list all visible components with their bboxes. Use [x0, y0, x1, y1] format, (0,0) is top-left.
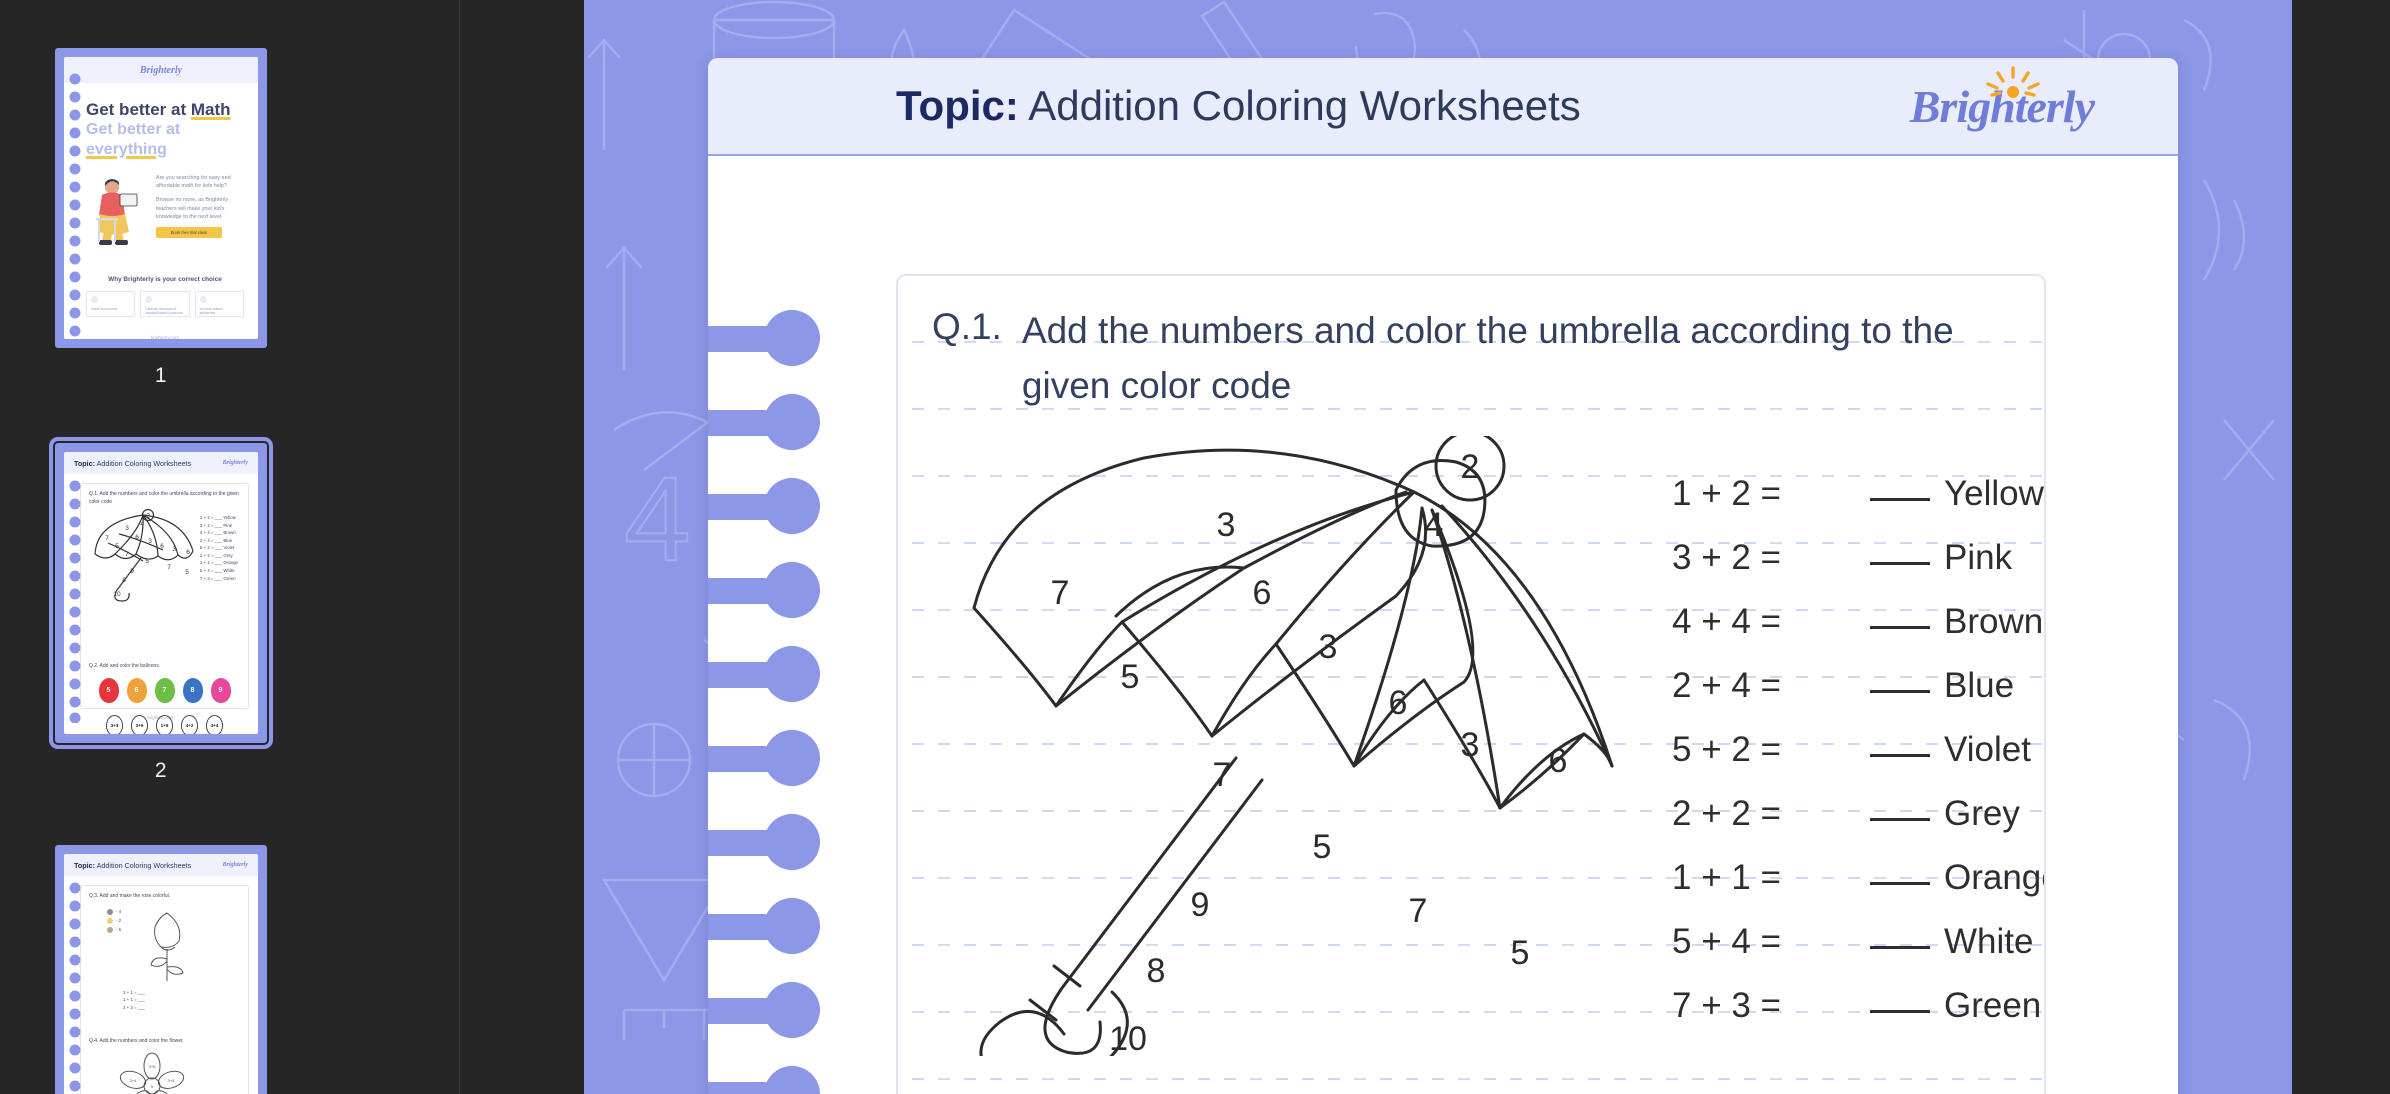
thumbnail-page-surface-3: Topic: Addition Coloring Worksheets Brig…: [64, 854, 258, 1094]
umbrella-number: 8: [1147, 952, 1166, 990]
ring-dot: [764, 730, 820, 786]
spiral-ring: [708, 382, 898, 466]
thumb1-paragraph-2: Browse no more, as Brighterly teachers w…: [156, 196, 244, 220]
svg-text:4: 4: [624, 452, 691, 586]
thumb1-why-heading: Why Brighterly is your correct choice: [86, 276, 244, 283]
spiral-binding: [708, 298, 898, 1094]
spiral-ring: [708, 886, 898, 970]
thumb3-key: - 5: [107, 927, 121, 933]
color-code-answer-blank[interactable]: [1870, 882, 1930, 885]
thumb1-heading-2-underline: everything: [86, 141, 167, 158]
ring-dot: [764, 1066, 820, 1094]
thumb2-balloon-sum: 1+6: [156, 715, 173, 735]
thumb3-content-card: Q.3. Add and make the rose colorful. - 4…: [80, 885, 249, 1094]
thumb2-header: Topic: Addition Coloring Worksheets Brig…: [64, 452, 258, 474]
svg-text:5: 5: [115, 543, 119, 550]
svg-text:7: 7: [105, 535, 109, 542]
umbrella-number: 4: [1425, 506, 1444, 544]
question-text: Add the numbers and color the umbrella a…: [1022, 304, 1954, 414]
thumb2-code-line: 2 + 2 = ___ Grey: [200, 552, 238, 560]
umbrella-number: 10: [1109, 1020, 1147, 1056]
thumbnail-page-2[interactable]: Topic: Addition Coloring Worksheets Brig…: [55, 443, 267, 783]
color-code-row: 2 + 4 =Blue: [1672, 668, 2046, 703]
thumb3-rose: [139, 909, 195, 985]
worksheet-sheet: 4 π: [584, 0, 2292, 1094]
color-code-color-name: Pink: [1944, 540, 2012, 575]
color-code-color-name: Blue: [1944, 668, 2014, 703]
svg-text:2: 2: [146, 513, 150, 520]
umbrella-number: 5: [1121, 658, 1140, 696]
thumb3-title-label: Topic:: [74, 861, 95, 870]
color-code-row: 1 + 1 =Orange: [1672, 860, 2046, 895]
svg-text:3: 3: [148, 538, 152, 545]
svg-text:5: 5: [185, 569, 189, 576]
thumb3-key-label: - 4: [116, 909, 121, 914]
thumb2-umbrella: 24 37 65 37 63 65 75 98 10: [89, 508, 209, 604]
thumb2-title-label: Topic:: [74, 459, 95, 468]
umbrella-number: 5: [1313, 828, 1332, 866]
svg-text:3+5: 3+5: [168, 1078, 176, 1083]
umbrella-number: 7: [1409, 892, 1428, 930]
question-card: Q.1. Add the numbers and color the umbre…: [896, 274, 2046, 1094]
umbrella-number: 7: [1213, 756, 1232, 794]
spiral-ring: [708, 298, 898, 382]
umbrella-number: 5: [1511, 934, 1530, 972]
color-code-equation: 1 + 2 =: [1672, 476, 1868, 511]
page-title-label: Topic:: [896, 82, 1019, 129]
color-code-answer-blank[interactable]: [1870, 946, 1930, 949]
svg-text:3+6: 3+6: [149, 1064, 157, 1069]
thumb3-rose-block: - 4 - 2 - 5: [89, 909, 240, 985]
color-code-color-name: Green: [1944, 988, 2041, 1023]
color-code-row: 5 + 4 =White: [1672, 924, 2046, 959]
svg-text:9: 9: [130, 568, 134, 575]
question-heading-row: Q.1. Add the numbers and color the umbre…: [932, 304, 2010, 414]
color-code-answer-blank[interactable]: [1870, 754, 1930, 757]
tan-dot-icon: [107, 927, 113, 933]
svg-text:8: 8: [122, 577, 126, 584]
thumb3-key-label: - 2: [116, 918, 121, 923]
svg-text:5: 5: [145, 558, 149, 565]
thumb1-heading-1-underline: Math: [191, 100, 231, 119]
worksheet-page: Topic: Addition Coloring Worksheets Brig…: [708, 58, 2178, 1094]
ring-dot: [764, 982, 820, 1038]
document-viewer[interactable]: 4 π: [461, 0, 2390, 1094]
question-text-line-1: Add the numbers and color the umbrella a…: [1022, 310, 1954, 351]
thumb1-card: Useful screen time: [86, 291, 135, 317]
svg-text:7: 7: [125, 551, 129, 558]
color-code-color-name: Grey: [1944, 796, 2020, 831]
thumb1-header: Brighterly: [64, 57, 258, 83]
thumb2-balloon: 9: [211, 678, 231, 703]
color-code-answer-blank[interactable]: [1870, 818, 1930, 821]
thumb3-sum: 3 + 2 = ___: [123, 1004, 240, 1012]
puzzle-icon: [145, 296, 152, 303]
spiral-ring: [708, 466, 898, 550]
thumb2-logo: Brighterly: [223, 460, 248, 466]
thumb1-footer: brighterly.com: [86, 335, 244, 339]
color-code-row: 7 + 3 =Green: [1672, 988, 2046, 1023]
ring-dot: [764, 898, 820, 954]
question-text-line-2: given color code: [1022, 365, 1291, 406]
svg-text:5: 5: [151, 1084, 154, 1089]
page-title-text: Addition Coloring Worksheets: [1028, 82, 1581, 129]
thumb1-heading-2: Get better at everything: [86, 120, 244, 160]
thumb3-key-label: - 5: [116, 927, 121, 932]
umbrella-number: 6: [1389, 684, 1408, 722]
thumb2-balloon-row: 56789: [89, 678, 240, 703]
thumb3-flower: 53+6 3+53+3 4+53+4 3+24+3: [102, 1052, 202, 1094]
color-code-answer-blank[interactable]: [1870, 1010, 1930, 1013]
umbrella-number: 6: [1253, 574, 1272, 612]
chart-icon: [200, 296, 207, 303]
thumb2-q1: Q.1. Add the numbers and color the umbre…: [89, 491, 240, 506]
color-code-color-name: Yellow: [1944, 476, 2044, 511]
thumb1-card-label: No class without adjustment: [200, 307, 239, 315]
thumb2-balloon-sum: 3+3: [106, 715, 123, 735]
umbrella-number: 9: [1191, 886, 1210, 924]
color-code-color-name: Violet: [1944, 732, 2031, 767]
spiral-ring: [708, 718, 898, 802]
color-code-row: 5 + 2 =Violet: [1672, 732, 2046, 767]
spiral-ring: [708, 970, 898, 1054]
spiral-ring: [708, 1054, 898, 1094]
thumb2-balloon-sum-row: 3+33+61+64+24+4: [89, 715, 240, 735]
thumb3-q3: Q.3. Add and make the rose colorful.: [89, 893, 240, 901]
page-thumbnail-rail[interactable]: Brighterly Get better at Math Get better…: [0, 0, 460, 1094]
umbrella-number: 2: [1461, 448, 1480, 486]
color-code-color-name: White: [1944, 924, 2033, 959]
thumb2-balloon-sum: 4+2: [181, 715, 198, 735]
ring-dot: [764, 478, 820, 534]
grey-dot-icon: [107, 909, 113, 915]
thumb3-sum: 3 + 1 = ___: [123, 989, 240, 997]
ring-dot: [764, 646, 820, 702]
thumbnail-frame-2[interactable]: Topic: Addition Coloring Worksheets Brig…: [55, 443, 267, 743]
thumb1-hero-row: Are you searching for easy and affordabl…: [86, 174, 244, 246]
thumb2-code-line: 2 + 4 = ___ Blue: [200, 537, 238, 545]
thumb2-code-line: 1 + 1 = ___ Orange: [200, 559, 238, 567]
svg-text:4: 4: [140, 521, 144, 528]
color-code-equation: 5 + 2 =: [1672, 732, 1868, 767]
umbrella-number: 6: [1549, 742, 1568, 780]
umbrella-number: 3: [1319, 628, 1338, 666]
thumb2-spiral-rings: [68, 478, 82, 723]
spiral-ring: [708, 802, 898, 886]
umbrella-number: 7: [1051, 574, 1070, 612]
thumb1-logo: Brighterly: [140, 65, 182, 76]
thumb1-paragraph-1: Are you searching for easy and affordabl…: [156, 174, 244, 190]
thumb3-sum: 1 + 1 = ___: [123, 996, 240, 1004]
thumb2-color-codes: 1 + 2 = ___ Yellow 3 + 2 = ___ Pink 4 + …: [200, 514, 238, 582]
question-number: Q.1.: [932, 304, 1002, 414]
page-title: Topic: Addition Coloring Worksheets: [896, 82, 1581, 130]
thumb1-heading-2-text: Get better at: [86, 121, 180, 138]
brighterly-logo: Brighterly: [1910, 80, 2094, 133]
worksheet-header: Topic: Addition Coloring Worksheets Brig…: [708, 58, 2178, 156]
thumb3-spiral-rings: [68, 880, 82, 1094]
thumbnail-frame-3[interactable]: Topic: Addition Coloring Worksheets Brig…: [55, 845, 267, 1094]
sunburst-icon: [1984, 66, 2042, 100]
thumb1-heading-1: Get better at Math: [86, 99, 244, 120]
thumb2-code-line: 1 + 2 = ___ Yellow: [200, 514, 238, 522]
thumb3-flower-block: 53+6 3+53+3 4+53+4 3+24+3 9 - Yellow 8 -…: [89, 1052, 240, 1094]
thumb2-balloon-sum: 4+4: [206, 715, 223, 735]
thumb3-header: Topic: Addition Coloring Worksheets Brig…: [64, 854, 258, 876]
thumb2-title-text: Addition Coloring Worksheets: [97, 459, 192, 468]
thumb1-illustration: [86, 174, 148, 246]
svg-text:3: 3: [172, 546, 176, 553]
svg-text:10: 10: [113, 591, 121, 598]
thumb2-code-line: 7 + 3 = ___ Green: [200, 575, 238, 583]
color-code-color-name: Brown: [1944, 604, 2043, 639]
color-code-answer-blank[interactable]: [1870, 626, 1930, 629]
umbrella-number: 3: [1461, 726, 1480, 764]
color-code-answer-blank[interactable]: [1870, 562, 1930, 565]
thumb1-heading-1-text: Get better at: [86, 100, 191, 119]
umbrella-illustration: 2 4 3 7 6 5 3 7 6 3 6 5: [944, 436, 1644, 1056]
thumb2-balloon-sum: 3+6: [131, 715, 148, 735]
color-code-row: 1 + 2 =Yellow: [1672, 476, 2046, 511]
thumb2-code-line: 3 + 2 = ___ Pink: [200, 522, 238, 530]
color-code-row: 3 + 2 =Pink: [1672, 540, 2046, 575]
color-code-row: 2 + 2 =Grey: [1672, 796, 2046, 831]
thumb2-q2: Q.2. Add and color the balloons.: [89, 663, 240, 671]
thumb3-title: Topic: Addition Coloring Worksheets: [74, 861, 191, 870]
thumb2-balloon: 5: [99, 678, 119, 703]
thumb1-card: Carefully developed & standard-based cur…: [140, 291, 189, 317]
thumbnail-page-3[interactable]: Topic: Addition Coloring Worksheets Brig…: [55, 845, 267, 1094]
umbrella-number: 3: [1217, 506, 1236, 544]
color-code-equation: 4 + 4 =: [1672, 604, 1868, 639]
color-code-equation: 2 + 4 =: [1672, 668, 1868, 703]
rail-divider: [459, 0, 460, 1094]
thumbnail-page-surface-2: Topic: Addition Coloring Worksheets Brig…: [64, 452, 258, 734]
svg-text:3+4: 3+4: [130, 1078, 138, 1083]
color-code-equation: 1 + 1 =: [1672, 860, 1868, 895]
thumb3-key: - 2: [107, 918, 121, 924]
thumb2-code-line: 5 + 2 = ___ Violet: [200, 544, 238, 552]
thumbnail-page-surface-1: Brighterly Get better at Math Get better…: [64, 57, 258, 339]
thumb3-rose-sums: 3 + 1 = ___ 1 + 1 = ___ 3 + 2 = ___: [89, 989, 240, 1013]
thumbnail-label-1: 1: [55, 364, 267, 388]
svg-text:6: 6: [186, 549, 190, 556]
color-code-answer-blank[interactable]: [1870, 498, 1930, 501]
spiral-ring: [708, 634, 898, 718]
thumb2-balloon: 6: [127, 678, 147, 703]
clock-icon: [91, 296, 98, 303]
yellow-dot-icon: [107, 918, 113, 924]
thumb1-feature-cards: Useful screen time Carefully developed &…: [86, 291, 244, 317]
thumb3-title-text: Addition Coloring Worksheets: [97, 861, 192, 870]
thumb3-key: - 4: [107, 909, 121, 915]
thumb2-balloon: 7: [155, 678, 175, 703]
thumbnail-page-1[interactable]: Brighterly Get better at Math Get better…: [55, 48, 267, 388]
thumb3-rose-keys: - 4 - 2 - 5: [89, 909, 121, 985]
thumb1-body: Get better at Math Get better at everyth…: [64, 83, 258, 339]
color-code-equation: 2 + 2 =: [1672, 796, 1868, 831]
svg-text:7: 7: [167, 564, 171, 571]
ring-dot: [764, 562, 820, 618]
ring-dot: [764, 310, 820, 366]
thumb2-content-card: Q.1. Add the numbers and color the umbre…: [80, 483, 249, 709]
question-body: 2 4 3 7 6 5 3 7 6 3 6 5: [932, 436, 2010, 1056]
thumb2-code-line: 5 + 4 = ___ White: [200, 567, 238, 575]
thumb1-card-label: Useful screen time: [91, 307, 130, 311]
thumb3-logo: Brighterly: [223, 862, 248, 868]
ring-dot: [764, 394, 820, 450]
color-code-equation: 7 + 3 =: [1672, 988, 1868, 1023]
thumbnail-label-2: 2: [55, 759, 267, 783]
thumb2-code-line: 4 + 4 = ___ Brown: [200, 529, 238, 537]
color-code-color-name: Orange: [1944, 860, 2046, 895]
thumb1-cta-button[interactable]: Book free trial class: [156, 227, 222, 238]
color-code-list: 1 + 2 =Yellow3 + 2 =Pink4 + 4 =Brown2 + …: [1672, 436, 2046, 1056]
svg-text:6: 6: [160, 543, 164, 550]
color-code-equation: 5 + 4 =: [1672, 924, 1868, 959]
color-code-row: 4 + 4 =Brown: [1672, 604, 2046, 639]
thumb3-q4: Q.4. Add the numbers and color the flowe…: [89, 1038, 240, 1046]
thumb1-card-label: Carefully developed & standard-based cur…: [145, 307, 184, 315]
thumb2-balloon: 8: [183, 678, 203, 703]
thumbnail-frame-1[interactable]: Brighterly Get better at Math Get better…: [55, 48, 267, 348]
ring-dot: [764, 814, 820, 870]
thumb1-copy: Are you searching for easy and affordabl…: [156, 174, 244, 246]
worksheet-viewer-app: Brighterly Get better at Math Get better…: [0, 0, 2390, 1094]
color-code-equation: 3 + 2 =: [1672, 540, 1868, 575]
thumb2-title: Topic: Addition Coloring Worksheets: [74, 459, 191, 468]
svg-text:6: 6: [135, 534, 139, 541]
thumb1-spiral-rings: [68, 71, 82, 339]
color-code-answer-blank[interactable]: [1870, 690, 1930, 693]
spiral-ring: [708, 550, 898, 634]
thumb1-card: No class without adjustment: [195, 291, 244, 317]
svg-text:3: 3: [125, 525, 129, 532]
